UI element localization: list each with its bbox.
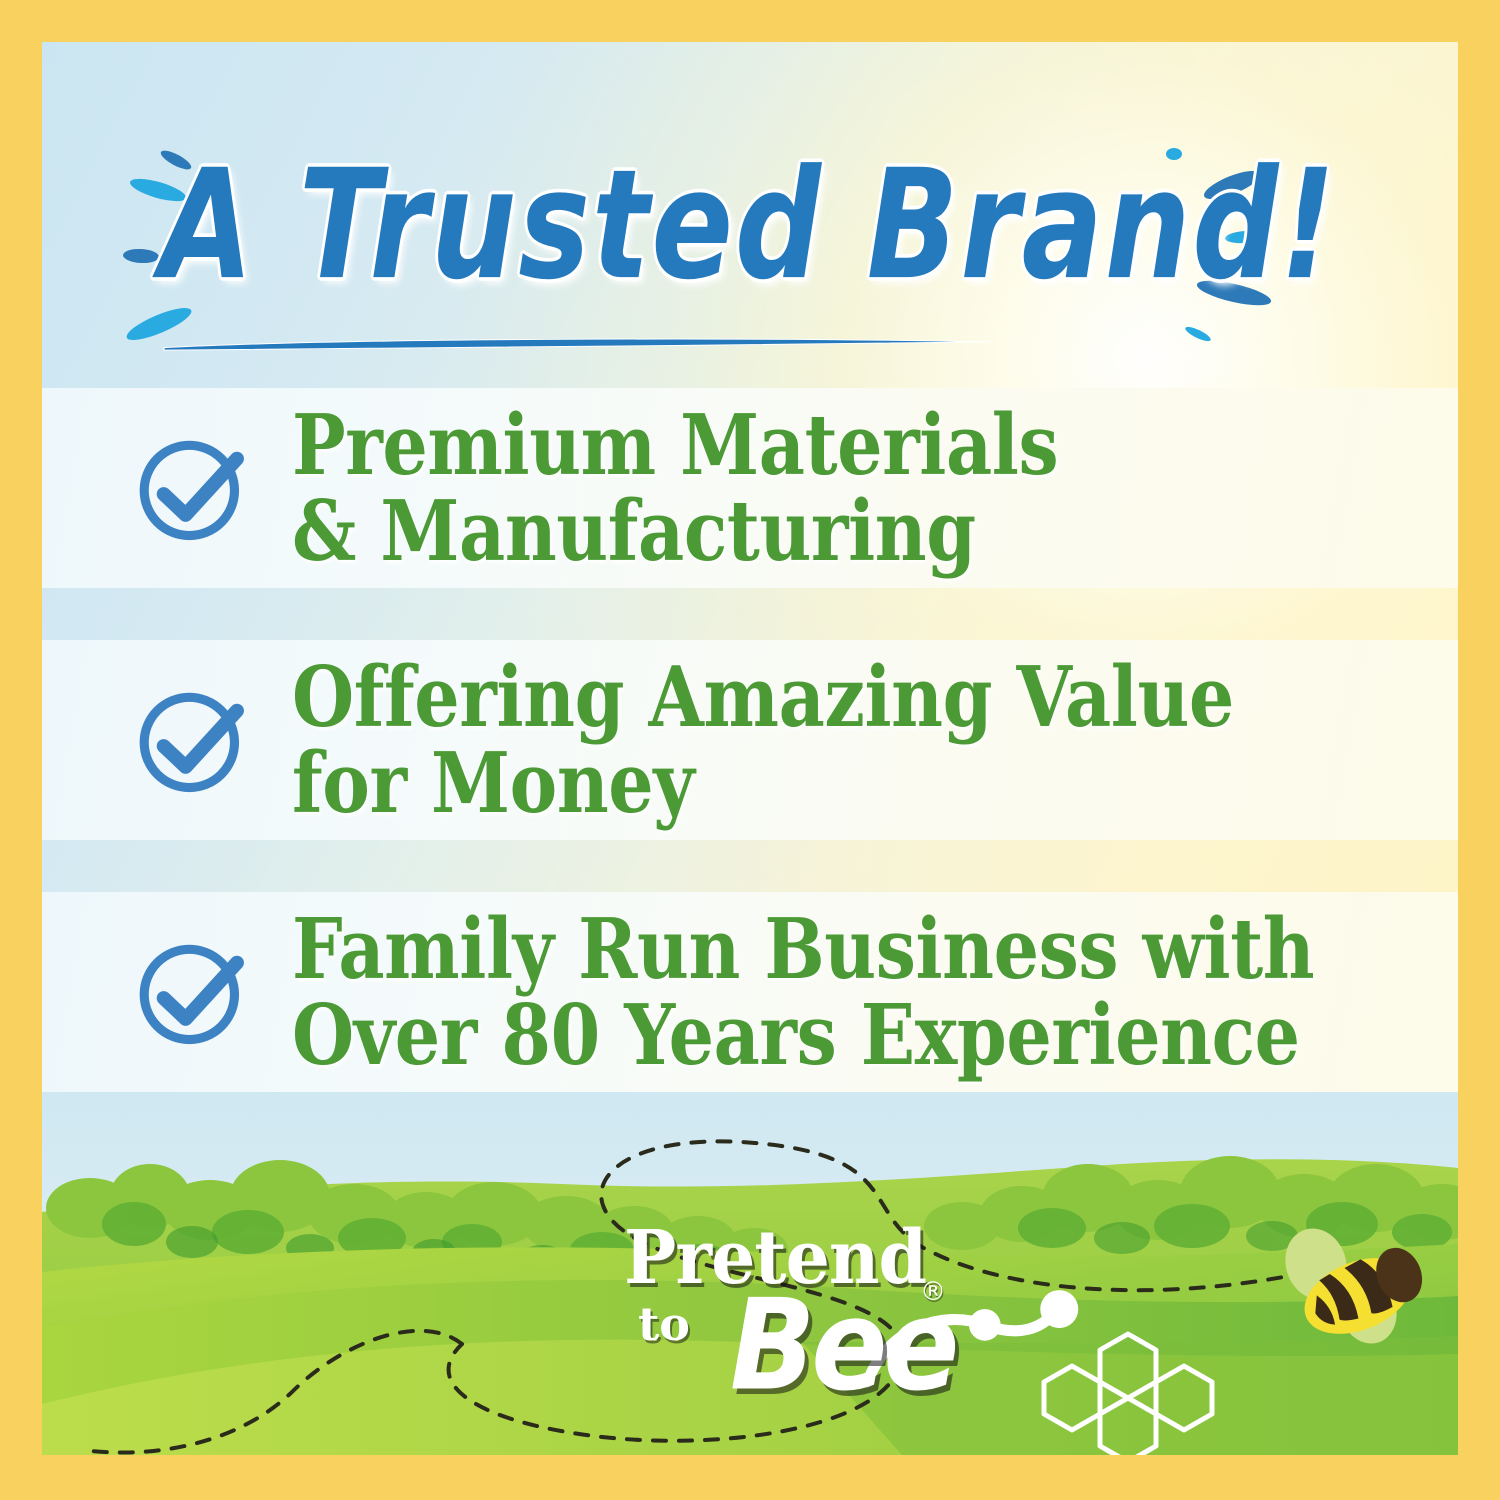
benefit-label-line2: for Money bbox=[292, 740, 1234, 826]
check-circle-icon bbox=[132, 679, 254, 801]
page-title: A Trusted Brand! bbox=[160, 138, 1337, 314]
header: A Trusted Brand! bbox=[42, 138, 1458, 378]
benefit-label-line1: Family Run Business with bbox=[292, 906, 1314, 992]
benefit-label-line2: & Manufacturing bbox=[292, 488, 1058, 574]
benefit-row-1: Premium Materials & Manufacturing bbox=[132, 388, 1432, 588]
poster: A Trusted Brand! Premium Materials & Man… bbox=[0, 0, 1500, 1500]
benefit-label-line1: Premium Materials bbox=[292, 402, 1058, 488]
benefit-label-line1: Offering Amazing Value bbox=[292, 654, 1234, 740]
title-underline-swoosh bbox=[162, 336, 992, 351]
benefit-label-line2: Over 80 Years Experience bbox=[292, 992, 1314, 1078]
landscape-scene: Pretend to Bee ® bbox=[42, 1092, 1458, 1455]
poster-inner: A Trusted Brand! Premium Materials & Man… bbox=[42, 42, 1458, 1455]
check-circle-icon bbox=[132, 931, 254, 1053]
benefit-row-2: Offering Amazing Value for Money bbox=[132, 640, 1432, 840]
check-circle-icon bbox=[132, 427, 254, 549]
benefit-row-3: Family Run Business with Over 80 Years E… bbox=[132, 892, 1432, 1092]
